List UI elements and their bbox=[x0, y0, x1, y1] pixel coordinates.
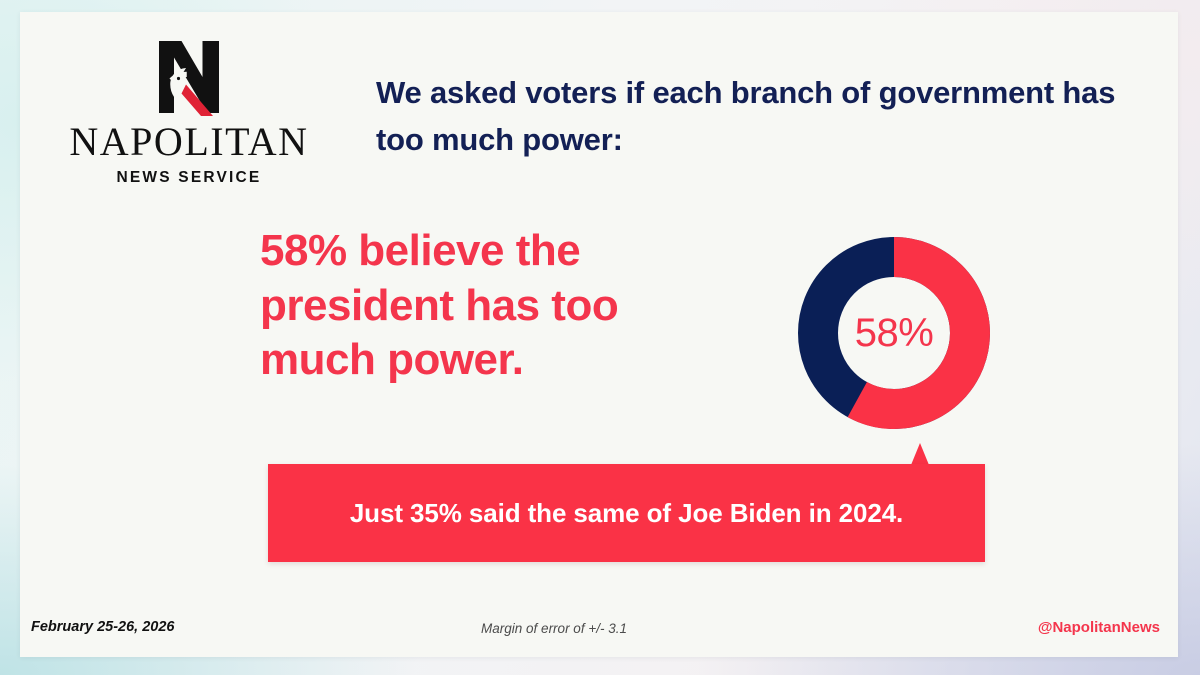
brand-tagline: NEWS SERVICE bbox=[64, 169, 314, 187]
comparison-banner: Just 35% said the same of Joe Biden in 2… bbox=[268, 464, 985, 562]
footer-social-handle: @NapolitanNews bbox=[1038, 619, 1160, 636]
content-card: NAPOLITAN NEWS SERVICE We asked voters i… bbox=[20, 12, 1178, 657]
footer-margin-of-error: Margin of error of +/- 3.1 bbox=[0, 621, 1178, 636]
banner-text: Just 35% said the same of Joe Biden in 2… bbox=[350, 498, 903, 529]
napolitan-eagle-n-icon bbox=[151, 38, 227, 116]
donut-center-label: 58% bbox=[798, 237, 990, 429]
slide-canvas: NAPOLITAN NEWS SERVICE We asked voters i… bbox=[0, 0, 1200, 675]
headline: We asked voters if each branch of govern… bbox=[376, 70, 1166, 163]
banner-pointer-icon bbox=[911, 443, 929, 465]
brand-logo: NAPOLITAN NEWS SERVICE bbox=[64, 38, 314, 187]
footer: February 25-26, 2026 Margin of error of … bbox=[20, 619, 1178, 641]
wordmark: NAPOLITAN bbox=[64, 122, 314, 162]
key-statement: 58% believe the president has too much p… bbox=[260, 224, 740, 388]
donut-chart: 58% bbox=[798, 237, 990, 429]
